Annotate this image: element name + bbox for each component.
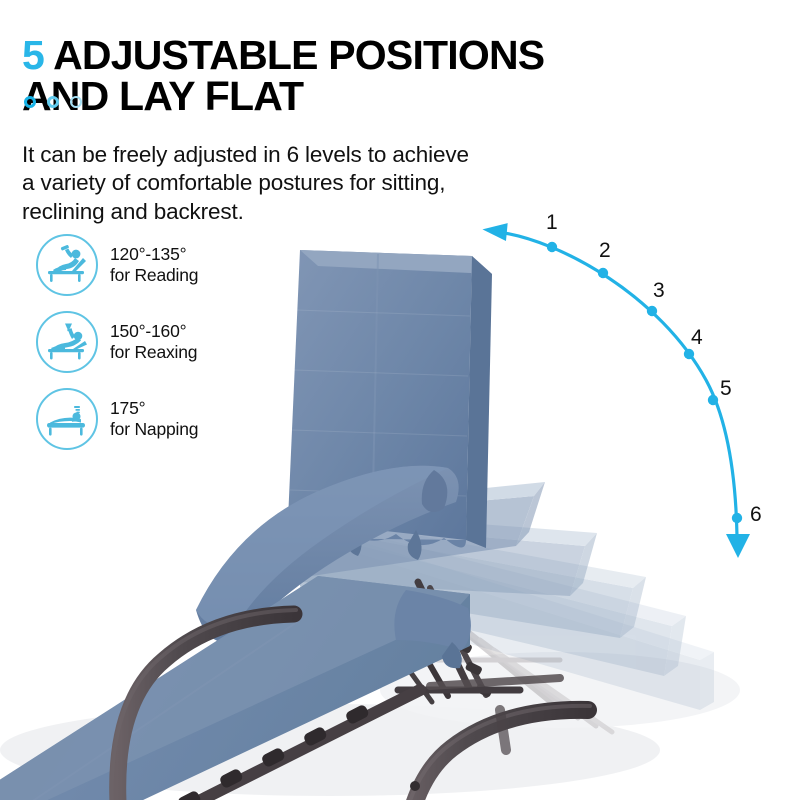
person-relaxing-with-drink-icon bbox=[36, 311, 98, 373]
feature-label-reading: 120°-135° for Reading bbox=[110, 244, 198, 286]
feature-item-reading: 120°-135° for Reading bbox=[36, 226, 198, 303]
feature-label-relaxing: 150°-160° for Reaxing bbox=[110, 321, 197, 363]
headline-text: ADJUSTABLE POSITIONS AND LAY FLAT bbox=[22, 32, 544, 118]
infographic-canvas: 5 ADJUSTABLE POSITIONS AND LAY FLAT It c… bbox=[0, 0, 800, 800]
feature-list: 120°-135° for Reading bbox=[36, 226, 198, 457]
feature-item-relaxing: 150°-160° for Reaxing bbox=[36, 303, 198, 380]
dot-icon-2 bbox=[47, 96, 59, 108]
person-napping-flat-icon bbox=[36, 388, 98, 450]
page-title: 5 ADJUSTABLE POSITIONS AND LAY FLAT bbox=[22, 35, 742, 115]
dot-icon-3 bbox=[70, 96, 82, 108]
headline-number: 5 bbox=[22, 32, 44, 78]
feature-label-napping: 175° for Napping bbox=[110, 398, 198, 440]
feature-item-napping: 175° for Napping bbox=[36, 380, 198, 457]
person-reading-on-lounger-icon bbox=[36, 234, 98, 296]
intro-paragraph: It can be freely adjusted in 6 levels to… bbox=[22, 141, 662, 227]
decorative-dots bbox=[24, 96, 82, 108]
dot-icon-1 bbox=[24, 96, 36, 108]
